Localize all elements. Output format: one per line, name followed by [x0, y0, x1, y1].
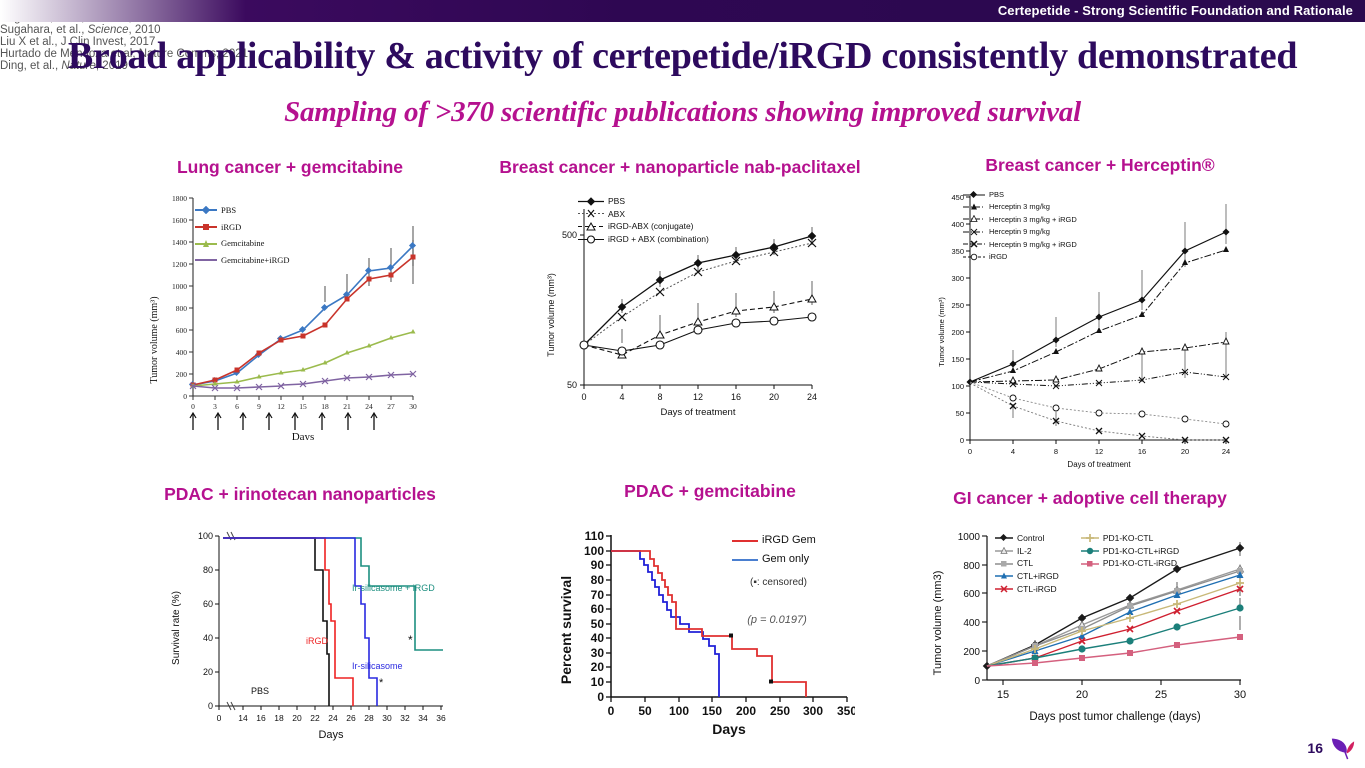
- censored-markers: [729, 634, 773, 684]
- svg-text:90: 90: [591, 558, 605, 572]
- panel-pdac-irinotecan: PDAC + irinotecan nanoparticles: [150, 485, 450, 504]
- legend-label: IL-2: [1017, 546, 1032, 557]
- svg-text:600: 600: [963, 589, 980, 600]
- legend-column-right: PD1-KO-CTL PD1-KO-CTL+iRGD PD1-KO-CTL-iR…: [1081, 533, 1179, 594]
- svg-text:Days: Days: [292, 431, 315, 440]
- svg-text:10: 10: [591, 675, 605, 689]
- svg-text:28: 28: [364, 713, 374, 723]
- p-value-label: (p = 0.0197): [747, 614, 807, 626]
- svg-text:32: 32: [400, 713, 410, 723]
- legend-item: ABX: [578, 209, 709, 220]
- svg-text:300: 300: [951, 274, 964, 283]
- svg-text:Tumor volume (mm³): Tumor volume (mm³): [937, 297, 946, 367]
- svg-text:1000: 1000: [958, 532, 981, 543]
- series-gemcitabine: [193, 332, 413, 386]
- svg-text:21: 21: [343, 402, 351, 411]
- svg-text:1400: 1400: [172, 238, 187, 247]
- svg-text:4: 4: [1011, 447, 1015, 456]
- panel-breast-herceptin: Breast cancer + Herceptin®: [950, 156, 1250, 175]
- slide-root: Certepetide - Strong Scientific Foundati…: [0, 0, 1365, 768]
- series-irgd: [223, 538, 353, 706]
- panel-title-herceptin: Breast cancer + Herceptin®: [950, 156, 1250, 175]
- svg-text:80: 80: [203, 565, 213, 575]
- legend-item: IL-2: [995, 546, 1059, 557]
- svg-text:80: 80: [591, 573, 605, 587]
- annot-irgd: iRGD: [306, 636, 328, 646]
- series-gem-only: [611, 551, 719, 697]
- legend-gi-adoptive: Control IL-2 CTL CTL+iRGD CTL-iRGD: [995, 533, 1179, 594]
- legend-label: Herceptin 9 mg/kg: [989, 227, 1050, 236]
- svg-text:400: 400: [963, 618, 980, 629]
- svg-text:Percent survival: Percent survival: [558, 576, 574, 684]
- svg-text:0: 0: [217, 713, 222, 723]
- legend-item: PBS: [195, 205, 290, 216]
- panel-pdac-gemcitabine: PDAC + gemcitabine: [560, 482, 860, 501]
- svg-text:Days post tumor challenge (day: Days post tumor challenge (days): [1029, 711, 1200, 723]
- svg-text:12: 12: [277, 402, 285, 411]
- svg-text:0: 0: [608, 704, 615, 718]
- svg-text:0: 0: [183, 392, 187, 401]
- svg-text:30: 30: [409, 402, 417, 411]
- svg-text:12: 12: [1095, 447, 1103, 456]
- legend-item: CTL: [995, 558, 1059, 569]
- panel-title-pdac-gem: PDAC + gemcitabine: [560, 482, 860, 501]
- svg-text:36: 36: [436, 713, 446, 723]
- svg-text:20: 20: [203, 667, 213, 677]
- svg-text:16: 16: [256, 713, 266, 723]
- legend-item: iRGD: [963, 252, 1077, 261]
- svg-text:15: 15: [997, 689, 1009, 701]
- page-number: 16: [1307, 740, 1323, 756]
- svg-text:400: 400: [176, 348, 188, 357]
- svg-text:24: 24: [1222, 447, 1230, 456]
- svg-text:1200: 1200: [172, 260, 187, 269]
- svg-text:24: 24: [328, 713, 338, 723]
- series-gemcitabine-irgd: [193, 374, 413, 388]
- legend-label: CTL: [1017, 558, 1033, 569]
- svg-text:26: 26: [346, 713, 356, 723]
- legend-label: Gem only: [762, 553, 809, 567]
- svg-text:50: 50: [638, 704, 652, 718]
- svg-text:70: 70: [591, 588, 605, 602]
- svg-text:24: 24: [807, 392, 817, 402]
- svg-text:20: 20: [1076, 689, 1088, 701]
- legend-column-left: Control IL-2 CTL CTL+iRGD CTL-iRGD: [995, 533, 1059, 594]
- legend-pdac-gem: iRGD Gem Gem only (▪: censored): [732, 534, 816, 589]
- svg-text:60: 60: [203, 599, 213, 609]
- svg-text:600: 600: [176, 326, 188, 335]
- svg-text:200: 200: [963, 647, 980, 658]
- legend-item: Control: [995, 533, 1059, 544]
- legend-item: Herceptin 9 mg/kg: [963, 227, 1077, 236]
- legend-label: CTL-iRGD: [1017, 584, 1057, 595]
- svg-text:25: 25: [1155, 689, 1167, 701]
- legend-label: Control: [1017, 533, 1044, 544]
- legend-item: iRGD-ABX (conjugate): [578, 221, 709, 232]
- panel-gi-adoptive: GI cancer + adoptive cell therapy: [930, 489, 1250, 508]
- svg-text:0: 0: [191, 402, 195, 411]
- svg-text:0: 0: [208, 701, 213, 711]
- svg-text:500: 500: [562, 230, 577, 240]
- svg-text:200: 200: [176, 370, 188, 379]
- svg-text:34: 34: [418, 713, 428, 723]
- svg-text:250: 250: [770, 704, 790, 718]
- svg-text:250: 250: [951, 301, 964, 310]
- svg-text:100: 100: [584, 544, 604, 558]
- svg-text:30: 30: [382, 713, 392, 723]
- svg-text:Days of treatment: Days of treatment: [661, 407, 736, 418]
- svg-text:0: 0: [968, 447, 972, 456]
- legend-item: iRGD Gem: [732, 534, 816, 548]
- svg-text:40: 40: [203, 633, 213, 643]
- svg-text:3: 3: [213, 402, 217, 411]
- svg-text:8: 8: [1054, 447, 1058, 456]
- svg-text:100: 100: [669, 704, 689, 718]
- svg-text:Tumor volume (mm³): Tumor volume (mm³): [546, 273, 556, 357]
- censored-note-label: (▪: censored): [732, 577, 807, 590]
- svg-text:50: 50: [956, 409, 964, 418]
- svg-text:60: 60: [591, 602, 605, 616]
- svg-text:Days: Days: [318, 729, 344, 741]
- svg-text:40: 40: [591, 631, 605, 645]
- legend-label: ABX: [608, 209, 625, 220]
- svg-text:150: 150: [951, 355, 964, 364]
- legend-item: CTL+iRGD: [995, 571, 1059, 582]
- legend-lung-gemcitabine: PBS iRGD Gemcitabine Gemcitabine+iRGD: [195, 205, 290, 266]
- leaf-logo-icon: [1329, 734, 1357, 760]
- svg-text:18: 18: [321, 402, 329, 411]
- annot-ir-silicasome: Ir-silicasome: [352, 661, 403, 671]
- legend-breast-nab: PBS ABX iRGD-ABX (conjugate) iRGD + ABX …: [578, 196, 709, 245]
- svg-text:Days: Days: [712, 721, 746, 737]
- legend-item: PD1-KO-CTL+iRGD: [1081, 546, 1179, 557]
- legend-item: Herceptin 9 mg/kg + iRGD: [963, 240, 1077, 249]
- panel-breast-nab-paclitaxel: Breast cancer + nanoparticle nab-paclita…: [470, 158, 890, 177]
- svg-text:20: 20: [292, 713, 302, 723]
- legend-item: Herceptin 3 mg/kg + iRGD: [963, 215, 1077, 224]
- svg-text:27: 27: [387, 402, 395, 411]
- panel-title-gi: GI cancer + adoptive cell therapy: [930, 489, 1250, 508]
- svg-text:4: 4: [619, 392, 624, 402]
- legend-label: Herceptin 9 mg/kg + iRGD: [989, 240, 1077, 249]
- svg-text:800: 800: [963, 561, 980, 572]
- series-ir-silicasome: [223, 538, 377, 706]
- svg-text:0: 0: [960, 436, 964, 445]
- legend-item: PBS: [963, 190, 1077, 199]
- svg-text:30: 30: [1234, 689, 1246, 701]
- series-pd1-ko-ctl-plus-irgd: [987, 608, 1240, 666]
- svg-text:300: 300: [803, 704, 823, 718]
- svg-text:Days of treatment: Days of treatment: [1067, 460, 1131, 469]
- svg-text:18: 18: [274, 713, 284, 723]
- panel-title-pdac-irinotecan: PDAC + irinotecan nanoparticles: [150, 485, 450, 504]
- page-subtitle: Sampling of >370 scientific publications…: [0, 96, 1365, 129]
- svg-text:12: 12: [693, 392, 703, 402]
- svg-text:Tumor volume (mm3): Tumor volume (mm3): [932, 571, 944, 676]
- svg-text:20: 20: [769, 392, 779, 402]
- svg-text:1000: 1000: [172, 282, 187, 291]
- legend-item: Gemcitabine+iRGD: [195, 255, 290, 266]
- annot-ir-silicasome-irgd: Ir-silicasome + iRGD: [352, 583, 435, 593]
- svg-text:8: 8: [657, 392, 662, 402]
- legend-item: PBS: [578, 196, 709, 207]
- svg-text:1600: 1600: [172, 216, 187, 225]
- legend-label: iRGD-ABX (conjugate): [608, 221, 694, 232]
- svg-text:9: 9: [257, 402, 261, 411]
- svg-text:200: 200: [736, 704, 756, 718]
- svg-text:100: 100: [951, 382, 964, 391]
- legend-item: iRGD: [195, 222, 290, 233]
- legend-label: iRGD Gem: [762, 534, 816, 548]
- series-pbs: [193, 246, 413, 385]
- legend-item: PD1-KO-CTL: [1081, 533, 1179, 544]
- svg-text:20: 20: [591, 660, 605, 674]
- svg-text:16: 16: [731, 392, 741, 402]
- legend-label: Herceptin 3 mg/kg + iRGD: [989, 215, 1077, 224]
- legend-breast-herceptin: PBS Herceptin 3 mg/kg Herceptin 3 mg/kg …: [963, 190, 1077, 261]
- legend-item: Gem only: [732, 553, 816, 567]
- legend-label: PD1-KO-CTL-iRGD: [1103, 558, 1177, 569]
- svg-text:16: 16: [1138, 447, 1146, 456]
- censored-note: (▪: censored): [732, 577, 816, 590]
- svg-text:0: 0: [974, 676, 980, 687]
- svg-text:24: 24: [365, 402, 373, 411]
- significance-marker-1: *: [408, 633, 413, 647]
- legend-label: Gemcitabine: [221, 238, 264, 249]
- svg-text:350: 350: [837, 704, 855, 718]
- svg-text:Survival rate (%): Survival rate (%): [171, 591, 182, 665]
- svg-text:14: 14: [238, 713, 248, 723]
- legend-label: iRGD + ABX (combination): [608, 234, 709, 245]
- svg-text:20: 20: [1181, 447, 1189, 456]
- legend-item: iRGD + ABX (combination): [578, 234, 709, 245]
- series-pd1-ko-ctl-minus-irgd: [987, 637, 1240, 666]
- svg-text:50: 50: [591, 617, 605, 631]
- svg-text:Tumor volume (mm³): Tumor volume (mm³): [149, 296, 160, 383]
- legend-label: PD1-KO-CTL+iRGD: [1103, 546, 1179, 557]
- legend-label: PBS: [221, 205, 236, 216]
- svg-text:150: 150: [702, 704, 722, 718]
- svg-text:0: 0: [597, 690, 604, 704]
- significance-marker-2: *: [379, 677, 384, 689]
- page-title: Broad applicability & activity of certep…: [0, 34, 1365, 78]
- svg-text:0: 0: [581, 392, 586, 402]
- series-pbs: [223, 538, 329, 706]
- legend-label: iRGD: [221, 222, 241, 233]
- legend-item: PD1-KO-CTL-iRGD: [1081, 558, 1179, 569]
- legend-label: CTL+iRGD: [1017, 571, 1059, 582]
- banner-title: Certepetide - Strong Scientific Foundati…: [998, 3, 1353, 18]
- svg-text:100: 100: [198, 531, 213, 541]
- svg-text:15: 15: [299, 402, 307, 411]
- legend-item: Gemcitabine: [195, 238, 290, 249]
- legend-item: Herceptin 3 mg/kg: [963, 202, 1077, 211]
- legend-label: iRGD: [989, 252, 1007, 261]
- legend-label: PBS: [608, 196, 625, 207]
- svg-text:6: 6: [235, 402, 239, 411]
- panel-lung-gemcitabine: Lung cancer + gemcitabine: [140, 158, 440, 177]
- legend-label: Herceptin 3 mg/kg: [989, 202, 1050, 211]
- svg-text:22: 22: [310, 713, 320, 723]
- svg-text:110: 110: [585, 529, 605, 543]
- annot-pbs: PBS: [251, 686, 269, 696]
- svg-text:50: 50: [567, 380, 577, 390]
- legend-label: PBS: [989, 190, 1004, 199]
- series-irgd: [193, 257, 413, 385]
- svg-text:800: 800: [176, 304, 188, 313]
- legend-item: CTL-iRGD: [995, 584, 1059, 595]
- svg-text:30: 30: [591, 646, 605, 660]
- series-herceptin-3-irgd: [970, 342, 1226, 382]
- panel-title-lung: Lung cancer + gemcitabine: [140, 158, 440, 177]
- svg-text:1800: 1800: [172, 194, 187, 203]
- legend-label: Gemcitabine+iRGD: [221, 255, 290, 266]
- legend-label: PD1-KO-CTL: [1103, 533, 1154, 544]
- svg-text:200: 200: [951, 328, 964, 337]
- panel-title-breast-nab: Breast cancer + nanoparticle nab-paclita…: [470, 158, 890, 177]
